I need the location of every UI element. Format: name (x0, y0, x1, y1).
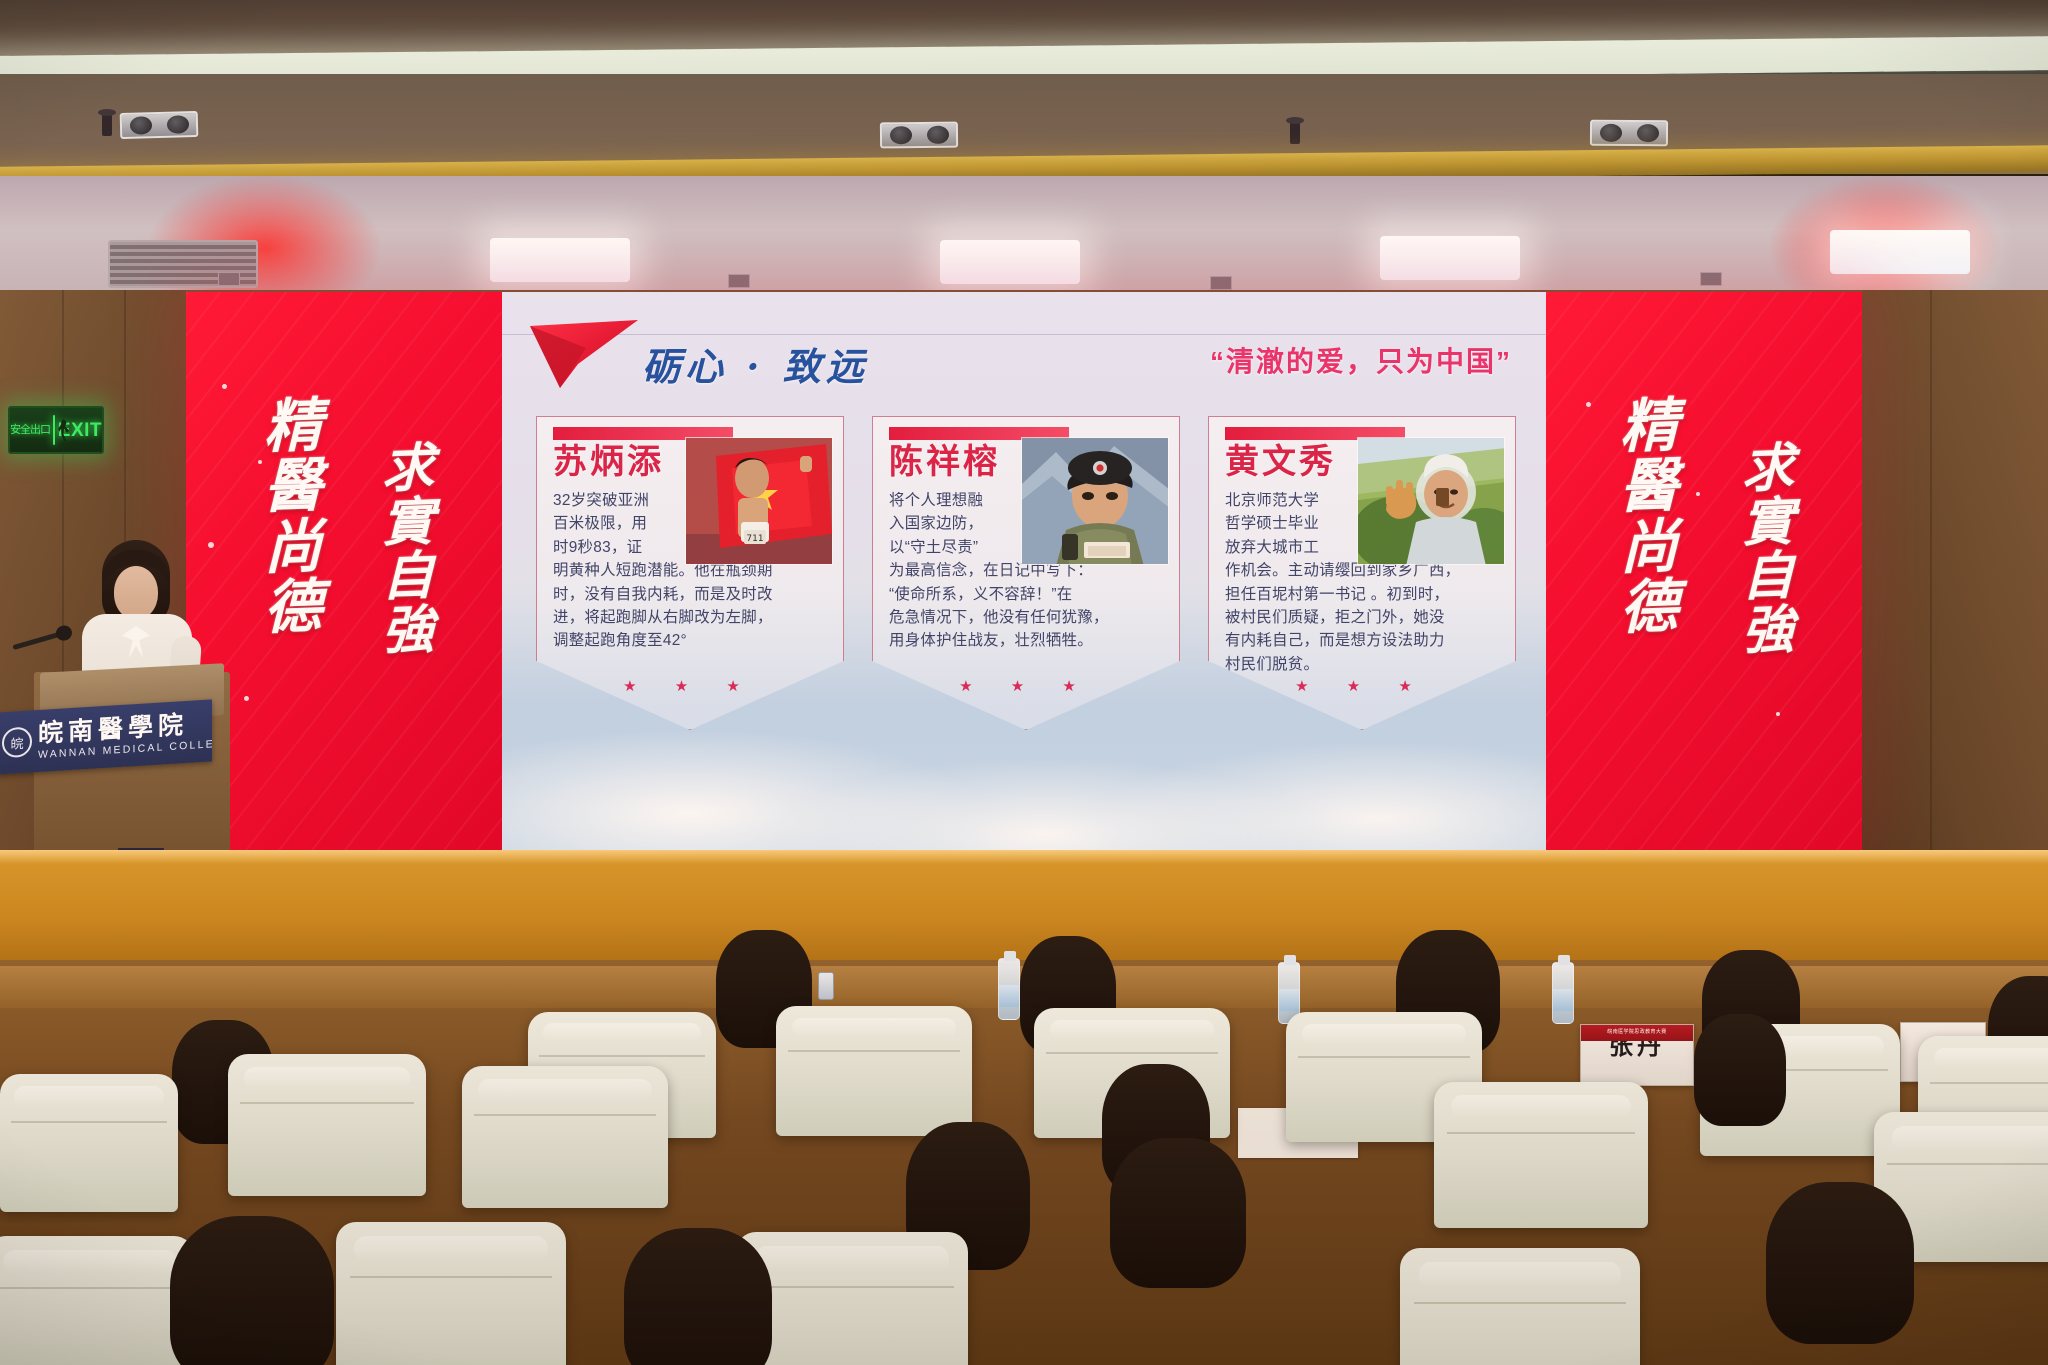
led-screen: 精醫尚德 求實自強 (186, 292, 1862, 850)
hero-card-list: 苏炳添 711 (536, 416, 1516, 746)
audience-head (1694, 1014, 1786, 1126)
calligraphy-left-col-2: 求實自強 (382, 441, 436, 659)
led-sheen-right (1546, 292, 1862, 850)
calligraphy-left-col-1: 精醫尚德 (264, 395, 324, 638)
lectern-nameplate: 皖 皖南醫學院 WANNAN MEDICAL COLLEGE (0, 699, 212, 774)
ceiling-panel-light-1 (490, 238, 630, 282)
placard-band-text: 皖南医学院思政教育大赛 (1581, 1028, 1693, 1035)
audience-chair (1434, 1082, 1648, 1228)
hero-card[interactable]: 黄文秀 (1208, 416, 1516, 730)
exit-sign-label-cn: 安全出口 (10, 425, 50, 436)
auditorium-scene: 安全出口 EXIT 精醫尚德 求實自強 (0, 0, 2048, 1365)
placard-header-band: 皖南医学院思政教育大赛 (1581, 1025, 1693, 1041)
phone-device (818, 972, 834, 1000)
stage-edge-highlight (0, 850, 2048, 864)
ceiling-spotlight-3 (1590, 120, 1668, 147)
audience-head (1766, 1182, 1914, 1344)
audience-chair (776, 1006, 972, 1136)
audience-chair (0, 1236, 194, 1365)
card-person-name: 苏炳添 (553, 445, 827, 479)
ceiling-sensor-2 (1290, 122, 1300, 144)
name-placard: 皖南医学院思政教育大赛 张丹 (1580, 1024, 1694, 1086)
slide-quote: “清澈的爱，只为中国” (1210, 340, 1512, 380)
ceiling-panel-light-4 (1830, 230, 1970, 274)
ceiling-panel-light-3 (1380, 236, 1520, 280)
wall-seam-3 (1930, 290, 1932, 850)
audience-chair (462, 1066, 668, 1208)
water-bottle-icon (1552, 962, 1574, 1024)
audience-chair (336, 1222, 566, 1365)
star-icon: ★ ★ ★ (873, 677, 1179, 695)
led-sheen-left (186, 292, 502, 850)
audience-head (170, 1216, 334, 1365)
presentation-slide: 砺心 · 致远 “清澈的爱，只为中国” 苏炳添 (502, 292, 1546, 850)
calligraphy-right-col-2: 求實自強 (1742, 441, 1796, 659)
exit-sign: 安全出口 EXIT (8, 406, 104, 454)
slide-title: 砺心 · 致远 (642, 336, 869, 391)
running-person-icon (53, 415, 55, 445)
college-logo-icon: 皖 (2, 726, 32, 758)
svg-text:711: 711 (746, 534, 763, 544)
audience-head (1110, 1138, 1246, 1288)
card-person-name: 黄文秀 (1225, 445, 1499, 479)
ceiling-panel-light-2 (940, 240, 1080, 284)
hero-card[interactable]: 苏炳添 711 (536, 416, 844, 730)
hero-card[interactable]: 陈祥榕 (872, 416, 1180, 730)
audience-chair (1400, 1248, 1640, 1365)
presenter-face (114, 566, 158, 620)
audience-chair (228, 1054, 426, 1196)
audience-chair (0, 1074, 178, 1212)
star-icon: ★ ★ ★ (537, 677, 843, 695)
ceiling-device-3 (1210, 276, 1232, 290)
ceiling-spotlight-1 (120, 111, 199, 139)
ceiling-device-1 (218, 272, 240, 286)
calligraphy-right-col-1: 精醫尚德 (1620, 395, 1680, 638)
ceiling-sensor-1 (102, 114, 112, 136)
star-icon: ★ ★ ★ (1209, 677, 1515, 695)
audience-head (624, 1228, 772, 1365)
slide-divider-line (502, 334, 1546, 335)
ceiling-device-4 (1700, 272, 1722, 286)
water-bottle-icon (998, 958, 1020, 1020)
wall-panel-right (1862, 290, 2048, 850)
ceiling-device-2 (728, 274, 750, 288)
card-person-name: 陈祥榕 (889, 445, 1163, 479)
led-panel-right: 精醫尚德 求實自強 (1546, 292, 1862, 850)
red-flag-icon (526, 318, 644, 392)
ceiling-spotlight-2 (880, 122, 958, 149)
led-panel-left: 精醫尚德 求實自強 (186, 292, 502, 850)
